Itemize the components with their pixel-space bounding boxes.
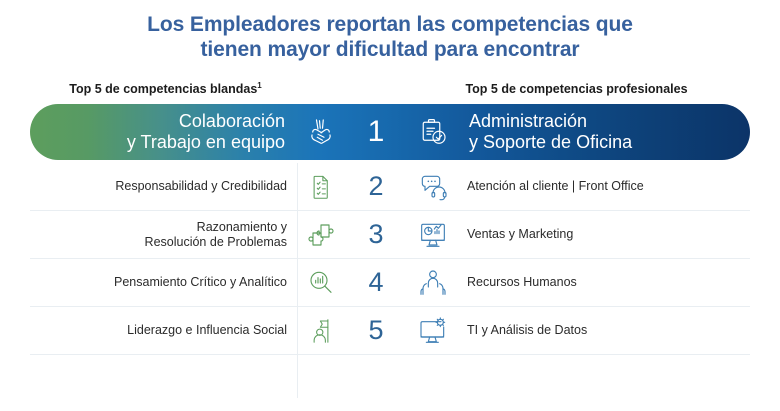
professional-skill-label-line-1: Administración [469,111,750,132]
soft-skill-label-line-1: Razonamiento y [30,220,287,235]
rank-number: 1 [345,117,407,147]
professional-skill-label-line-1: Recursos Humanos [467,275,750,290]
table-row[interactable]: Colaboración y Trabajo en equipo 1 [30,104,750,160]
soft-skill-label-line-2: y Trabajo en equipo [30,132,285,153]
soft-skill-label-line-1: Responsabilidad y Credibilidad [30,179,287,194]
column-header-soft-skills-label: Top 5 de competencias blandas [69,82,257,96]
title-line-1: Los Empleadores reportan las competencia… [0,12,780,37]
table-row[interactable]: Liderazgo e Influencia Social 5 [30,307,750,355]
checklist-icon [297,172,345,202]
monitor-gear-icon [407,315,459,347]
page-title: Los Empleadores reportan las competencia… [0,0,780,62]
soft-skill-label: Liderazgo e Influencia Social [30,323,297,338]
headset-chat-icon [407,171,459,203]
person-in-hands-icon [407,267,459,299]
rank-number: 4 [345,269,407,296]
clipboard-check-icon [407,114,459,150]
professional-skill-label: Ventas y Marketing [459,227,750,242]
professional-skill-label: Recursos Humanos [459,275,750,290]
rank-number: 3 [345,221,407,248]
table-row[interactable]: Razonamiento y Resolución de Problemas 3 [30,211,750,259]
professional-skill-label: Administración y Soporte de Oficina [459,111,750,153]
rank-number: 2 [345,173,407,200]
soft-skill-label-line-1: Pensamiento Crítico y Analítico [30,275,287,290]
professional-skill-label: Atención al cliente | Front Office [459,179,750,194]
soft-skill-label: Razonamiento y Resolución de Problemas [30,220,297,250]
person-flag-icon [297,316,345,346]
soft-skill-label-line-2: Resolución de Problemas [30,235,287,250]
column-headers: Top 5 de competencias blandas1 Top 5 de … [0,74,780,96]
table-row[interactable]: Pensamiento Crítico y Analítico 4 [30,259,750,307]
magnifier-bars-icon [297,267,345,299]
table-row[interactable]: Responsabilidad y Credibilidad 2 [30,163,750,211]
monitor-analytics-icon [407,219,459,251]
footnote-marker: 1 [257,81,261,90]
column-header-soft-skills: Top 5 de competencias blandas1 [34,81,297,96]
soft-skill-label-line-1: Liderazgo e Influencia Social [30,323,287,338]
soft-skill-label: Colaboración y Trabajo en equipo [30,111,297,153]
ranking-table: Colaboración y Trabajo en equipo 1 [0,104,780,355]
professional-skill-label-line-2: y Soporte de Oficina [469,132,750,153]
soft-skill-label-line-1: Colaboración [30,111,285,132]
infographic-root: Los Empleadores reportan las competencia… [0,0,780,411]
professional-skill-label: TI y Análisis de Datos [459,323,750,338]
professional-skill-label-line-1: Ventas y Marketing [467,227,750,242]
professional-skill-label-line-1: Atención al cliente | Front Office [467,179,750,194]
soft-skill-label: Responsabilidad y Credibilidad [30,179,297,194]
professional-skill-label-line-1: TI y Análisis de Datos [467,323,750,338]
column-header-professional-skills: Top 5 de competencias profesionales [407,82,746,96]
title-line-2: tienen mayor dificultad para encontrar [0,37,780,62]
rank-number: 5 [345,317,407,344]
teamwork-hands-icon [297,114,345,150]
soft-skill-label: Pensamiento Crítico y Analítico [30,275,297,290]
puzzle-pieces-icon [297,219,345,251]
